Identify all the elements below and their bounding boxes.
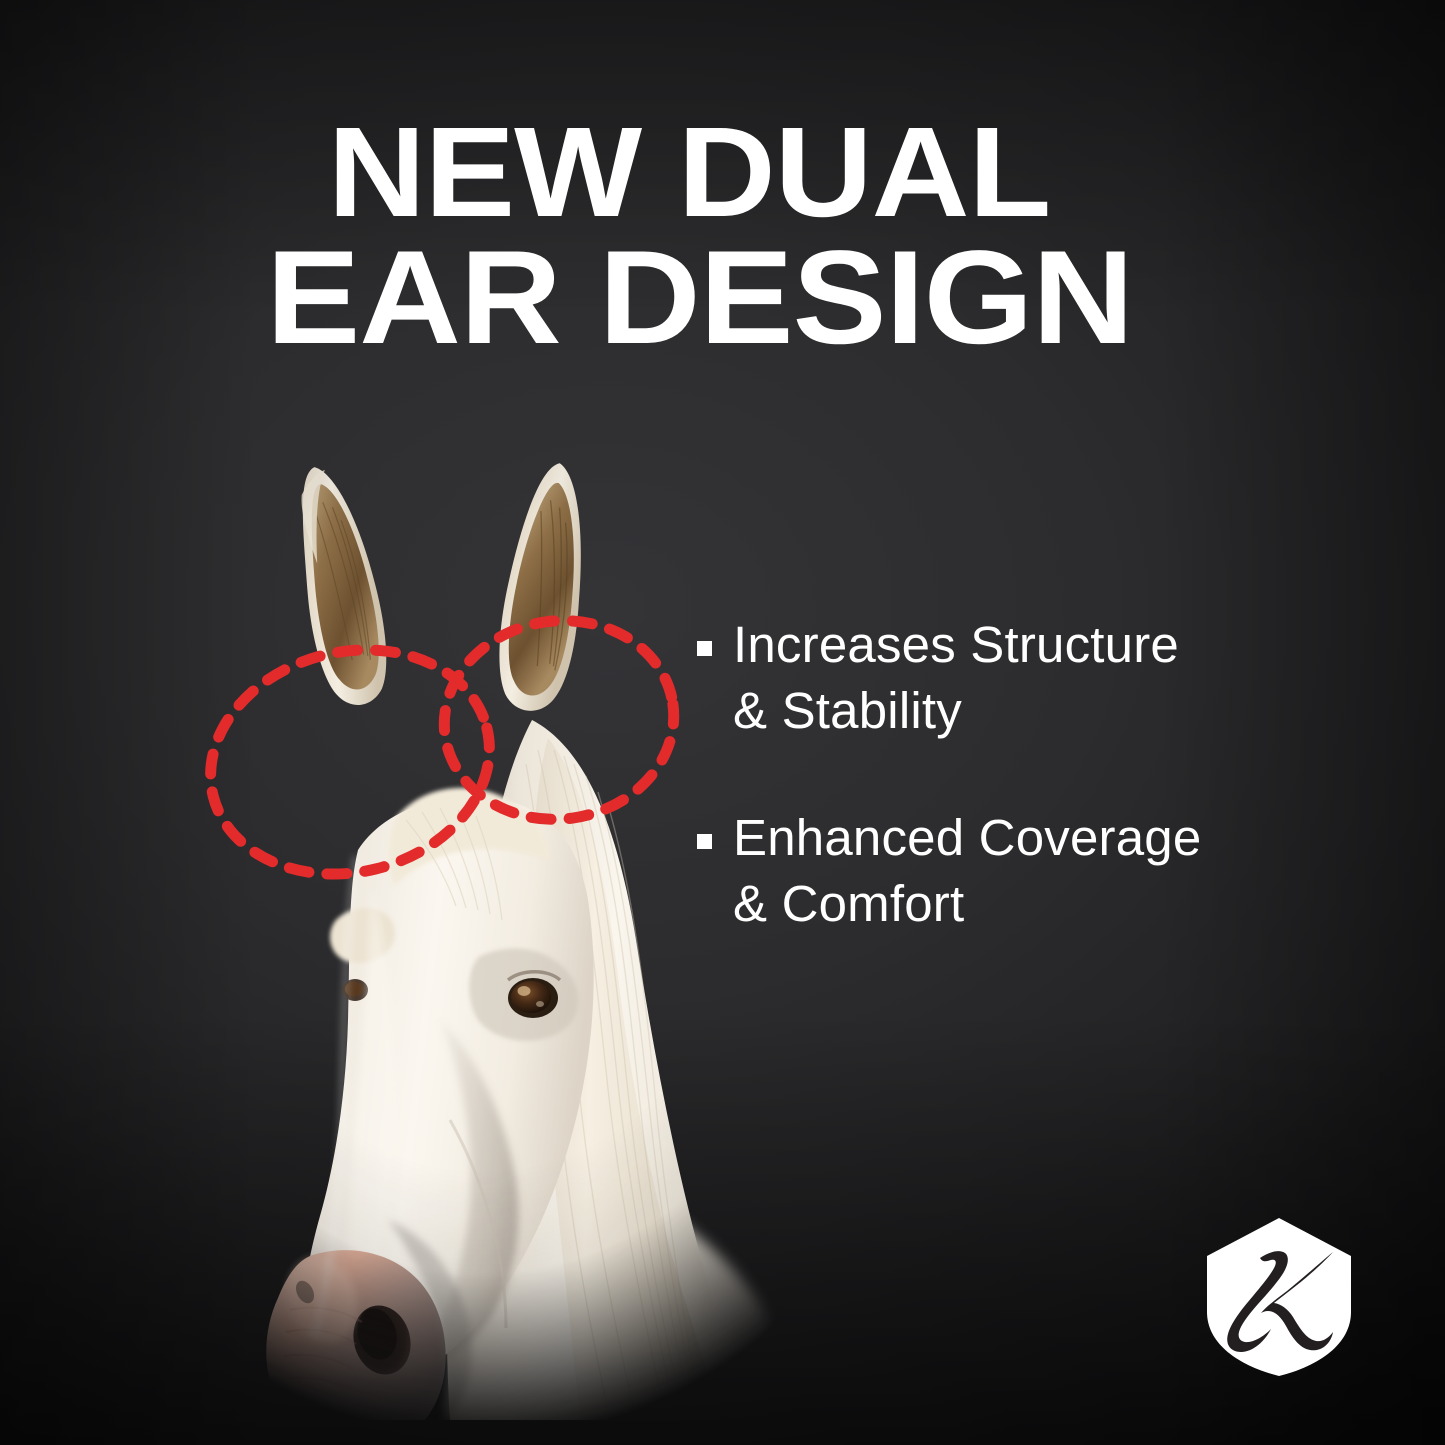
feature-text-line-1: Increases Structure (733, 616, 1179, 673)
feature-text-line-1: Enhanced Coverage (733, 809, 1201, 866)
list-item: Enhanced Coverage & Comfort (697, 805, 1357, 938)
annotation-oval-left-ear (187, 621, 514, 903)
list-item: Increases Structure & Stability (697, 612, 1357, 745)
page-title-line-1: NEW DUAL (262, 112, 1248, 235)
feature-list: Increases Structure & Stability Enhanced… (697, 612, 1357, 937)
feature-text-line-2: & Comfort (733, 875, 964, 932)
annotation-svg (150, 420, 790, 1420)
brand-shield-logo (1203, 1216, 1355, 1378)
shield-icon (1203, 1216, 1355, 1378)
square-bullet-icon (697, 834, 712, 849)
annotation-layer (150, 420, 790, 1420)
feature-text: Enhanced Coverage & Comfort (733, 805, 1201, 938)
page-title-line-2: EAR DESIGN (262, 235, 1248, 363)
page-title: NEW DUAL EAR DESIGN (262, 112, 1248, 363)
square-bullet-icon (697, 641, 712, 656)
feature-text: Increases Structure & Stability (733, 612, 1179, 745)
shield-shape (1207, 1218, 1351, 1376)
promo-graphic-canvas: NEW DUAL EAR DESIGN Increases Structure … (0, 0, 1445, 1445)
feature-text-line-2: & Stability (733, 682, 962, 739)
